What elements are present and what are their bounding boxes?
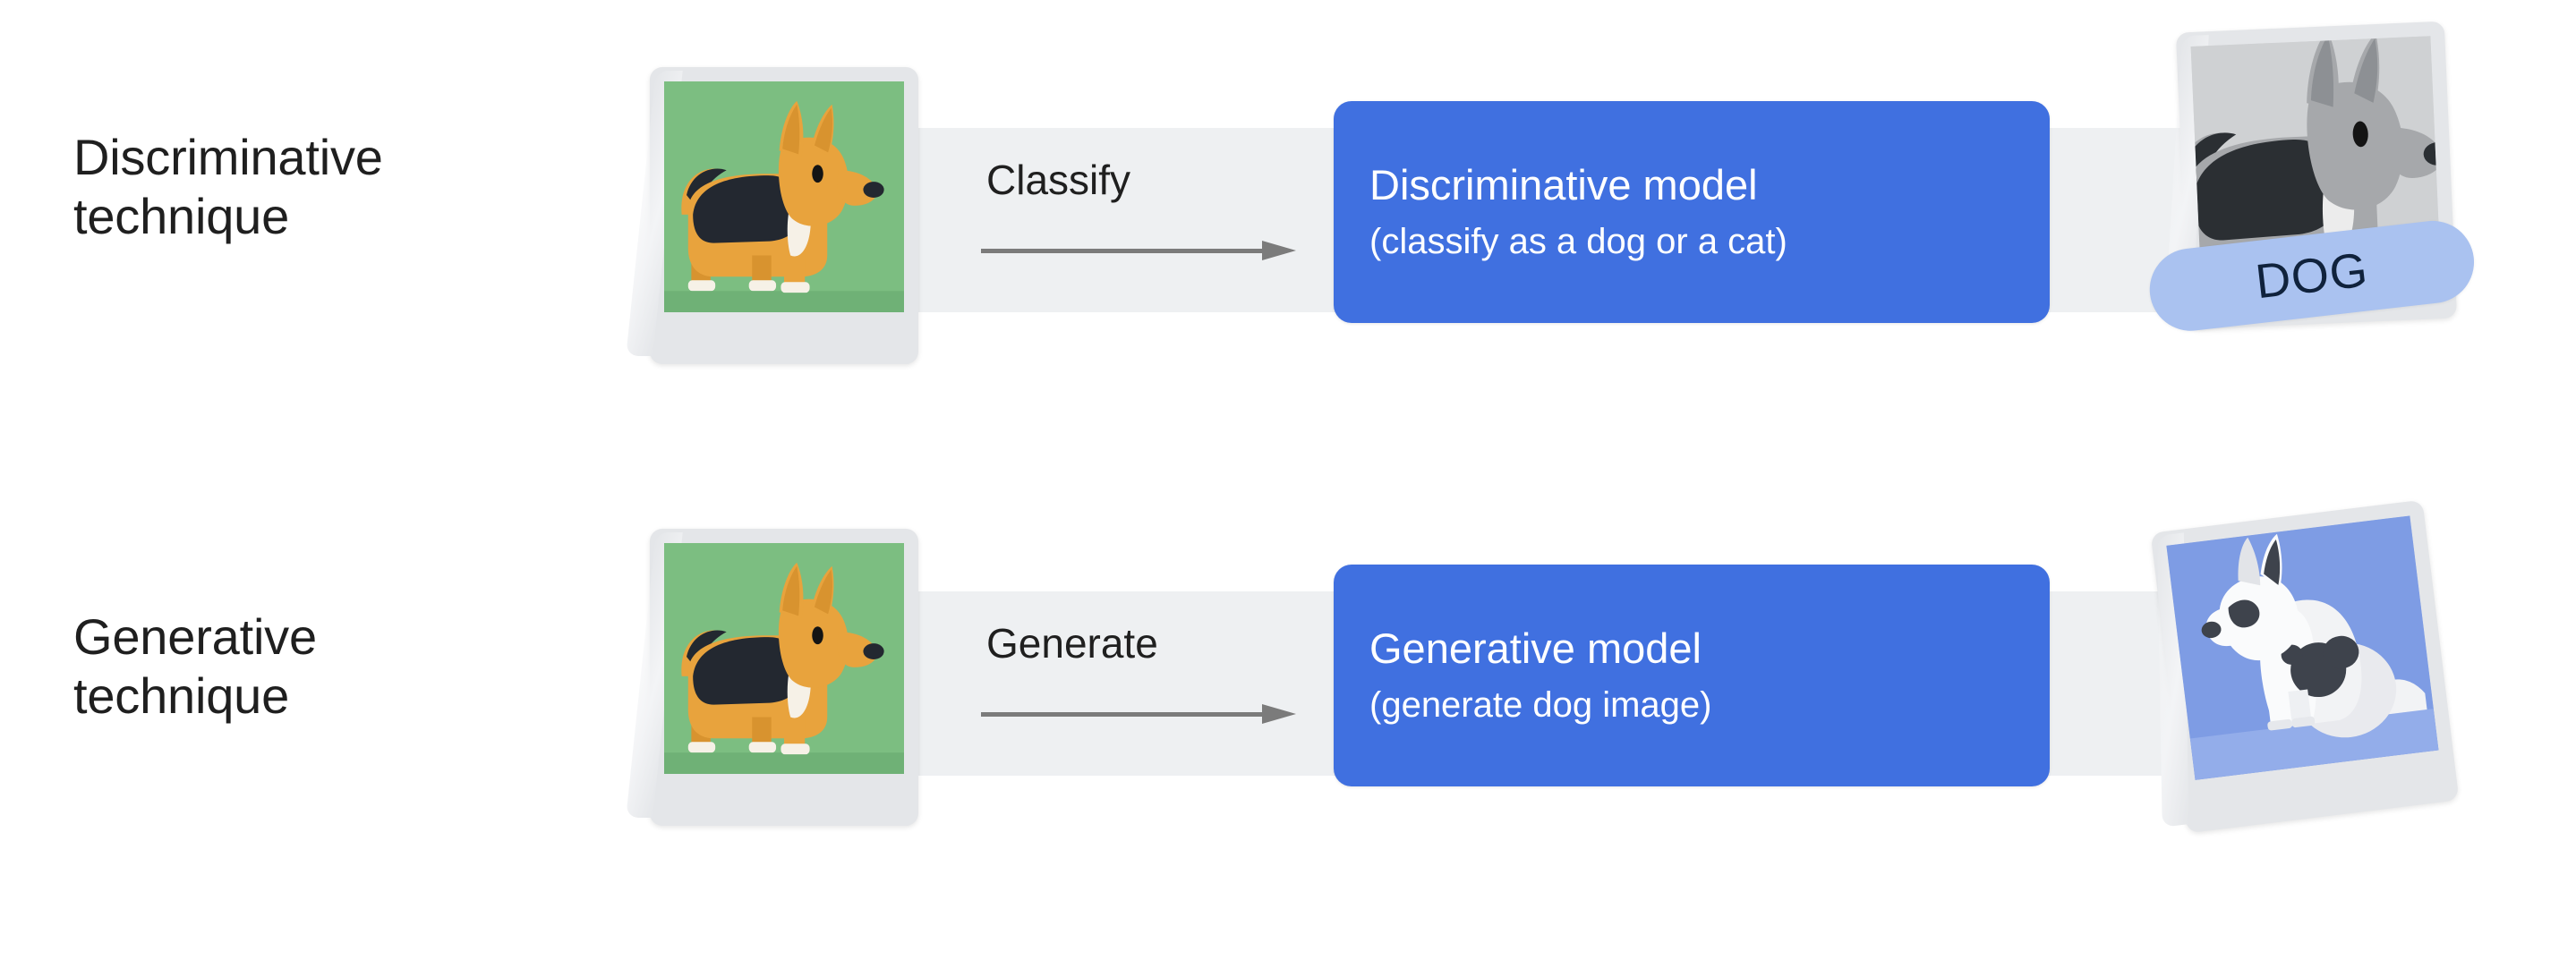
- input-image-card-discriminative: [650, 67, 918, 364]
- output-card-discriminative: DOG: [2176, 21, 2457, 330]
- flow-arrow-group-generative: Generate: [974, 623, 1332, 723]
- model-box-generative[interactable]: Generative model (generate dog image): [1334, 565, 2050, 786]
- output-card-generative: [2151, 500, 2460, 834]
- flow-arrow-group-discriminative: Classify: [974, 159, 1332, 259]
- model-title-generative: Generative model: [1369, 624, 2014, 673]
- technique-label-discriminative: Discriminative technique: [73, 128, 383, 246]
- row-generative: Generative technique: [0, 488, 2576, 977]
- model-title-discriminative: Discriminative model: [1369, 161, 2014, 209]
- action-label-classify: Classify: [974, 159, 1332, 200]
- model-subtitle-discriminative: (classify as a dog or a cat): [1369, 220, 2014, 263]
- input-image-card-generative: [650, 529, 918, 826]
- arrow-right-icon: [974, 705, 1332, 723]
- input-dog-photo-discriminative: [664, 81, 904, 312]
- dog-illustration-icon: [664, 543, 904, 774]
- input-dog-photo-generative: [664, 543, 904, 774]
- model-subtitle-generative: (generate dog image): [1369, 684, 2014, 726]
- output-generated-dog-photo: [2166, 515, 2438, 779]
- dog-illustration-icon: [664, 81, 904, 312]
- action-label-generate: Generate: [974, 623, 1332, 664]
- output-image-card-generative: [2151, 500, 2460, 834]
- arrow-right-icon: [974, 242, 1332, 259]
- row-discriminative: Discriminative technique: [0, 0, 2576, 488]
- generated-dog-illustration-icon: [2166, 515, 2438, 779]
- model-box-discriminative[interactable]: Discriminative model (classify as a dog …: [1334, 101, 2050, 323]
- technique-label-generative: Generative technique: [73, 607, 317, 726]
- diagram-canvas: Discriminative technique: [0, 0, 2576, 977]
